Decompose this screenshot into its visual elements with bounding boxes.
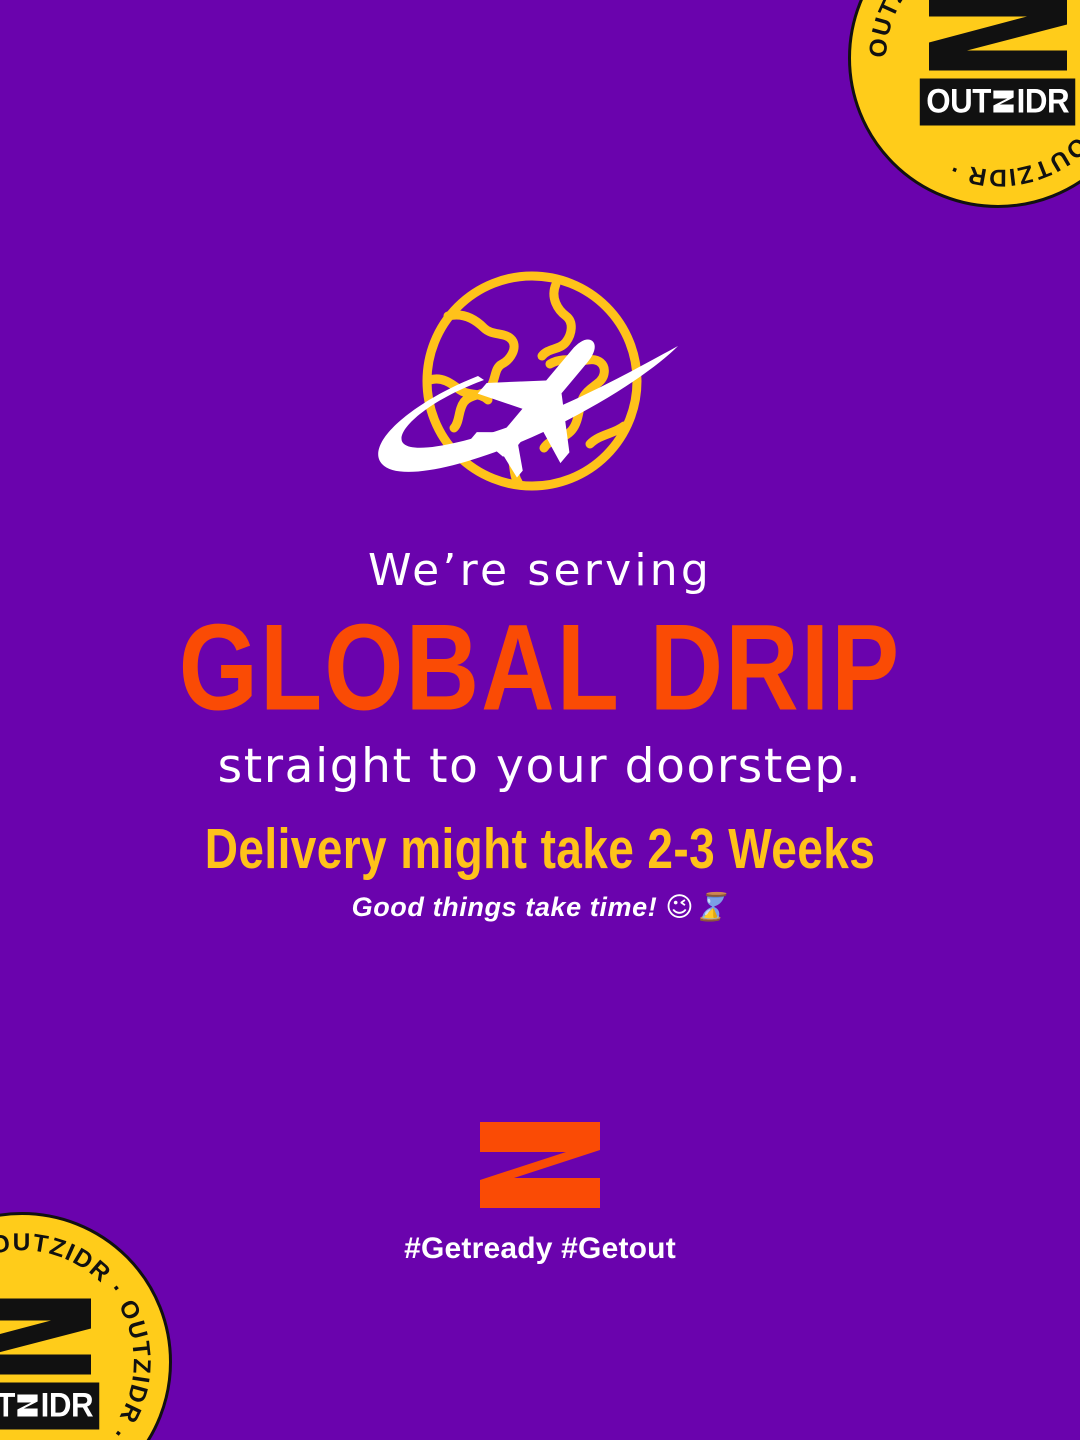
subline-text: straight to your doorstep. [0, 741, 1080, 793]
outzidr-badge-top-right: OUTZIDR · OUTZIDR · OUTZIDR · OUTZIDR · … [848, 0, 1080, 208]
badge-core-bottom-left: OUT IDR [0, 1295, 108, 1430]
badge-wordmark-bottom-left: OUT IDR [0, 1383, 100, 1430]
promo-poster: OUTZIDR · OUTZIDR · OUTZIDR · OUTZIDR · … [0, 0, 1080, 1440]
headline-block: We’re serving GLOBAL DRIP straight to yo… [0, 546, 1080, 793]
badge-core-top-right: OUT IDR [912, 0, 1080, 126]
headline-text: GLOBAL DRIP [0, 607, 1080, 730]
outzidr-z-logo-icon [0, 1295, 97, 1379]
badge-wordmark-z-icon [992, 89, 1016, 115]
badge-wordmark-left: OUT [927, 85, 992, 119]
outzidr-z-logo-icon [923, 0, 1073, 75]
delivery-block: Delivery might take 2-3 Weeks Good thing… [0, 818, 1080, 923]
badge-wordmark-top-right: OUT IDR [920, 79, 1076, 126]
delivery-note: Good things take time! 😉⌛ [0, 891, 1080, 923]
outzidr-badge-bottom-left: OUTZIDR · OUTZIDR · OUTZIDR · OUTZIDR · … [0, 1212, 172, 1440]
badge-wordmark-right: IDR [41, 1389, 93, 1423]
hashtags-text: #Getready #Getout [404, 1232, 676, 1266]
eyebrow-text: We’re serving [0, 546, 1080, 595]
badge-wordmark-left: OUT [0, 1389, 15, 1423]
outzidr-z-logo-icon [478, 1120, 602, 1210]
delivery-headline: Delivery might take 2-3 Weeks [0, 818, 1080, 880]
badge-wordmark-right: IDR [1017, 85, 1069, 119]
globe-plane-artwork [0, 268, 1080, 498]
badge-wordmark-z-icon [16, 1393, 40, 1419]
